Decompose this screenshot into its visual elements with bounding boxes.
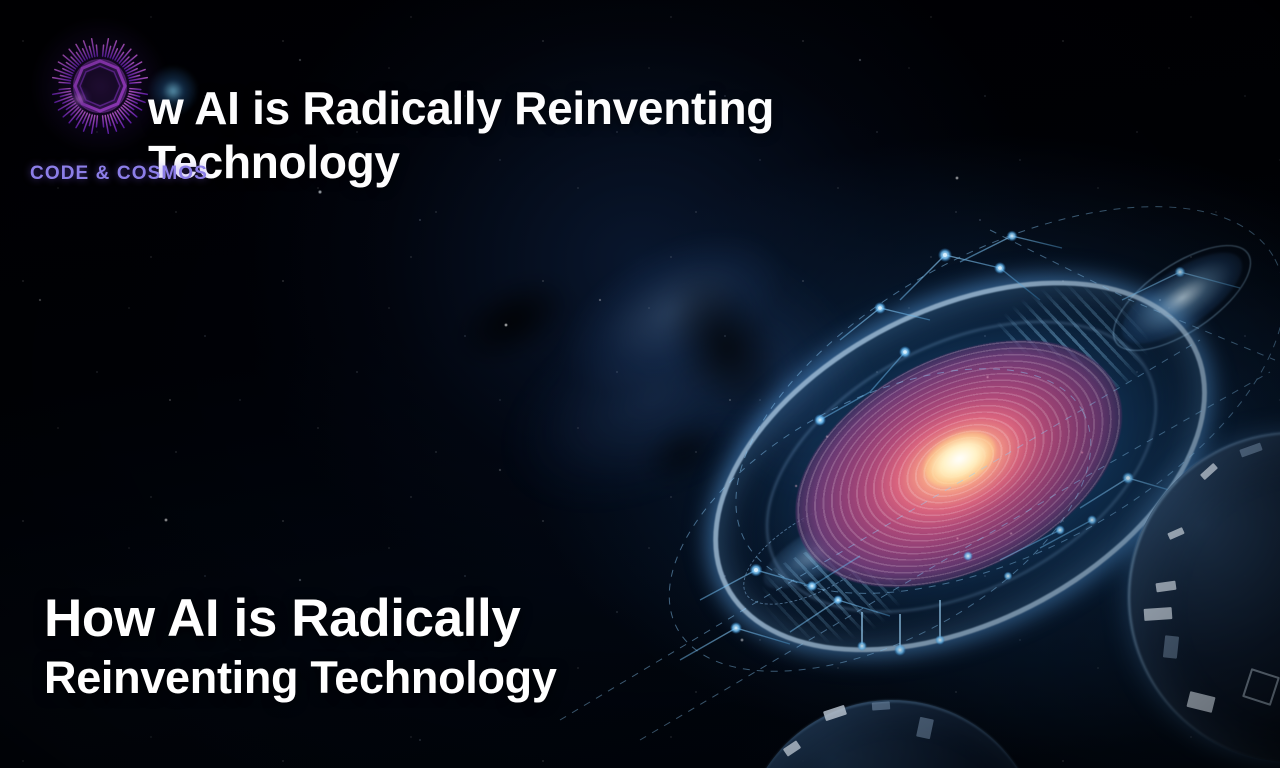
brand-name: CODE & COSMOS <box>30 163 208 185</box>
radial-burst-octagon-icon <box>48 34 152 138</box>
headline-top: w AI is Radically Reinventing Technology <box>148 82 908 190</box>
headline-bottom-line2: Reinventing Technology <box>44 651 704 706</box>
logo-spark-violet-icon <box>66 86 92 112</box>
headline-bottom: How AI is Radically Reinventing Technolo… <box>44 590 704 706</box>
headline-bottom-line1: How AI is Radically <box>44 590 704 647</box>
logo[interactable] <box>48 34 152 138</box>
hero-banner: w AI is Radically Reinventing Technology… <box>0 0 1280 768</box>
